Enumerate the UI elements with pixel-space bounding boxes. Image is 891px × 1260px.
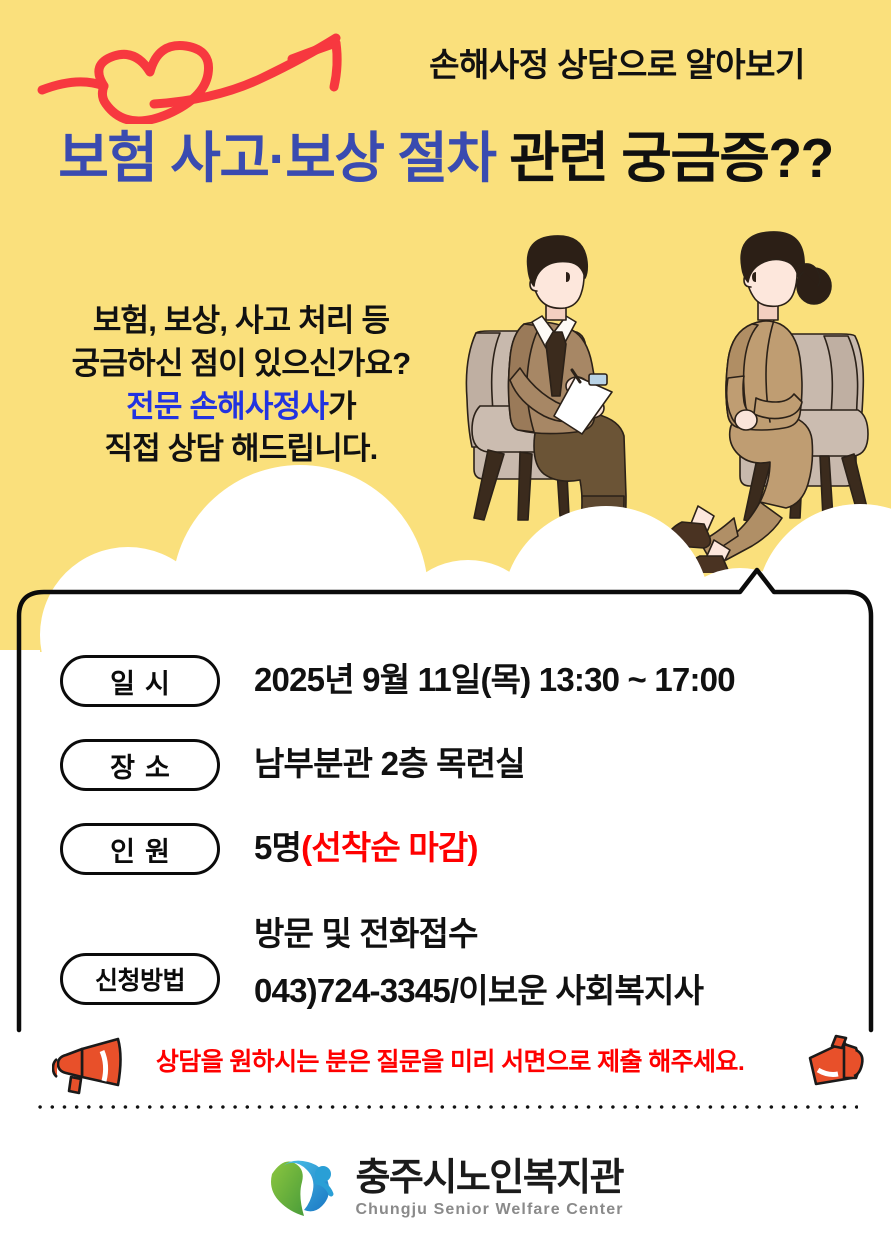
info-block: 일시 2025년 9월 11일(목) 13:30 ~ 17:00 장소 남부분관…: [0, 655, 891, 1007]
megaphone-icon: [800, 1034, 872, 1094]
notice-text: 상담을 원하시는 분은 질문을 미리 서면으로 제출 해주세요.: [120, 1042, 780, 1078]
value-place: 남부분관 2층 목련실: [254, 739, 891, 780]
apply-contact: 043)724-3345/이보운 사회복지사: [254, 974, 891, 1007]
logo-text: 충주시노인복지관 Chungju Senior Welfare Center: [355, 1159, 623, 1218]
lead-highlight-tail: 가: [328, 389, 356, 424]
info-row-apply: 신청방법 방문 및 전화접수 043)724-3345/이보운 사회복지사: [0, 909, 891, 1007]
label-pill-apply: 신청방법: [60, 953, 220, 1005]
organization-name-en: Chungju Senior Welfare Center: [355, 1202, 623, 1218]
poster-root: 손해사정 상담으로 알아보기 보험 사고·보상 절차 관련 궁금증?? 보험, …: [0, 0, 891, 1260]
value-apply: 방문 및 전화접수 043)724-3345/이보운 사회복지사: [254, 909, 891, 1007]
info-row-datetime: 일시 2025년 9월 11일(목) 13:30 ~ 17:00: [0, 655, 891, 707]
page-title: 보험 사고·보상 절차 관련 궁금증??: [0, 128, 891, 189]
counseling-illustration: [458, 228, 891, 573]
chungju-heart-hand-logo-icon: [267, 1158, 341, 1218]
lead-line-4: 직접 상담 해드립니다.: [16, 428, 466, 471]
footer: 충주시노인복지관 Chungju Senior Welfare Center: [0, 1158, 891, 1218]
label-pill-capacity: 인원: [60, 823, 220, 875]
header-kicker: 손해사정 상담으로 알아보기: [362, 38, 872, 86]
lead-paragraph: 보험, 보상, 사고 처리 등 궁금하신 점이 있으신가요? 전문 손해사정사가…: [16, 300, 466, 471]
headline-blue: 보험 사고·보상 절차: [58, 127, 495, 189]
lead-line-3: 전문 손해사정사가: [16, 386, 466, 429]
label-pill-place: 장소: [60, 739, 220, 791]
value-datetime: 2025년 9월 11일(목) 13:30 ~ 17:00: [254, 655, 891, 696]
notice-strip: 상담을 원하시는 분은 질문을 미리 서면으로 제출 해주세요.: [0, 1036, 891, 1098]
capacity-count: 5명: [254, 829, 301, 866]
value-capacity: 5명(선착순 마감): [254, 823, 891, 864]
capacity-note: (선착순 마감): [301, 829, 478, 866]
headline-black: 관련 궁금증??: [509, 127, 832, 189]
info-row-capacity: 인원 5명(선착순 마감): [0, 823, 891, 875]
info-row-place: 장소 남부분관 2층 목련실: [0, 739, 891, 791]
label-pill-datetime: 일시: [60, 655, 220, 707]
lead-line-1: 보험, 보상, 사고 처리 등: [16, 300, 466, 343]
organization-name-ko: 충주시노인복지관: [355, 1159, 623, 1197]
apply-method: 방문 및 전화접수: [254, 915, 478, 952]
dotted-divider: [34, 1103, 858, 1111]
lead-line-2: 궁금하신 점이 있으신가요?: [16, 343, 466, 386]
lead-highlight: 전문 손해사정사: [126, 389, 328, 424]
heart-arrow-icon: [36, 28, 356, 124]
